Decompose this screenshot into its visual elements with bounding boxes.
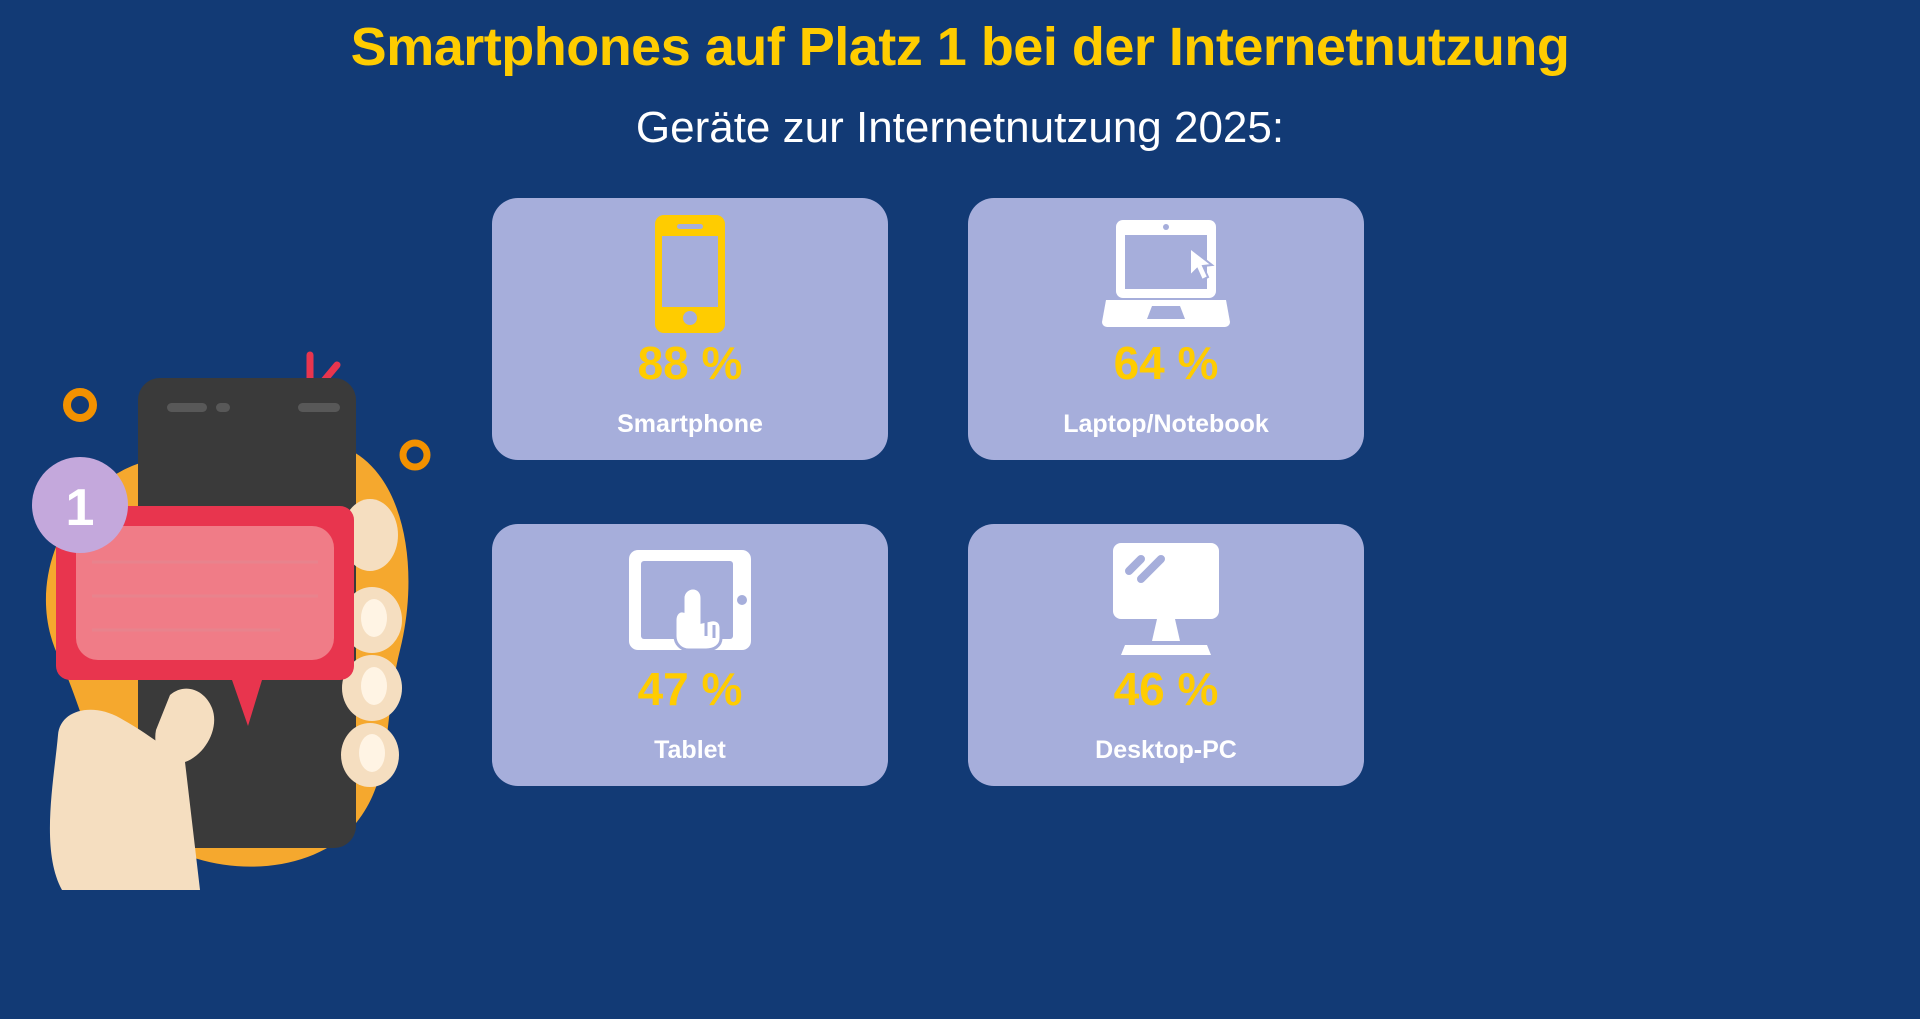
laptop-icon [1102, 210, 1230, 338]
orange-ring-large [403, 443, 427, 467]
stat-label: Smartphone [617, 410, 763, 439]
device-stats-grid: 88 % Smartphone 64 % Laptop/Notebook [492, 198, 1364, 786]
page-subtitle: Geräte zur Internetnutzung 2025: [0, 103, 1920, 154]
smartphone-icon [655, 210, 725, 338]
smartphone-sensor [216, 403, 230, 412]
smartphone-speaker [167, 403, 207, 412]
smartphone-top-bar [298, 403, 340, 412]
orange-ring-small [67, 392, 93, 418]
stat-card-tablet[interactable]: 47 % Tablet [492, 524, 888, 786]
tablet-icon [629, 536, 751, 664]
stat-value: 47 % [638, 666, 743, 712]
stat-card-laptop[interactable]: 64 % Laptop/Notebook [968, 198, 1364, 460]
hand-holding-smartphone-illustration: 1 [0, 330, 450, 890]
notification-badge-count: 1 [66, 479, 95, 537]
stat-card-smartphone[interactable]: 88 % Smartphone [492, 198, 888, 460]
stat-label: Tablet [654, 736, 726, 765]
stat-label: Laptop/Notebook [1063, 410, 1269, 439]
stat-label: Desktop-PC [1095, 736, 1237, 765]
stat-value: 64 % [1114, 340, 1219, 386]
stat-card-desktop-pc[interactable]: 46 % Desktop-PC [968, 524, 1364, 786]
stat-value: 88 % [638, 340, 743, 386]
notification-badge: 1 [32, 457, 128, 553]
stat-value: 46 % [1114, 666, 1219, 712]
desktop-pc-icon [1107, 536, 1225, 664]
page-title: Smartphones auf Platz 1 bei der Internet… [0, 18, 1920, 77]
